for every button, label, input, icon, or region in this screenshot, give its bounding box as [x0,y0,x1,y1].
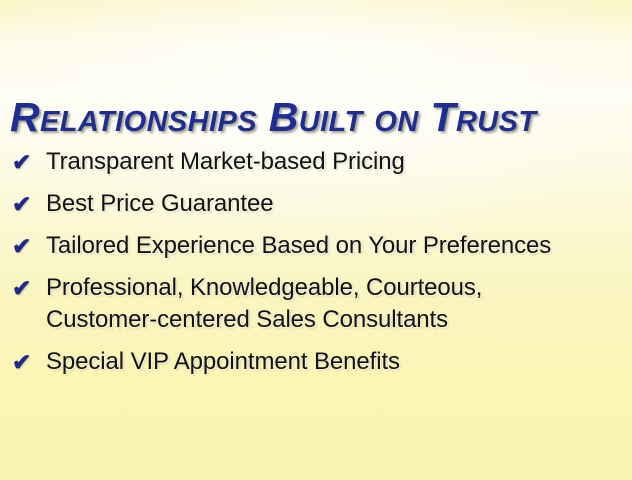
slide-canvas: Relationships Built on Trust ✔ Transpare… [0,0,632,480]
checkmark-icon: ✔ [12,272,46,304]
benefits-list: ✔ Transparent Market-based Pricing ✔ Bes… [12,146,632,378]
checkmark-icon: ✔ [12,230,46,262]
list-item-label-line2: Customer-centered Sales Consultants [46,304,632,336]
list-item-label: Best Price Guarantee [46,188,632,220]
list-item: ✔ Special VIP Appointment Benefits [12,346,632,378]
page-title: Relationships Built on Trust [10,95,626,139]
list-item: ✔ Tailored Experience Based on Your Pref… [12,230,632,262]
list-item-label: Transparent Market-based Pricing [46,146,632,178]
list-item-label: Tailored Experience Based on Your Prefer… [46,230,632,262]
list-item-label-line1: Professional, Knowledgeable, Courteous, [46,274,482,301]
list-item: ✔ Transparent Market-based Pricing [12,146,632,178]
list-item: ✔ Best Price Guarantee [12,188,632,220]
list-item-label: Special VIP Appointment Benefits [46,346,632,378]
list-item-label: Professional, Knowledgeable, Courteous,C… [46,272,632,336]
list-item: ✔ Professional, Knowledgeable, Courteous… [12,272,632,336]
checkmark-icon: ✔ [12,146,46,178]
checkmark-icon: ✔ [12,346,46,378]
checkmark-icon: ✔ [12,188,46,220]
